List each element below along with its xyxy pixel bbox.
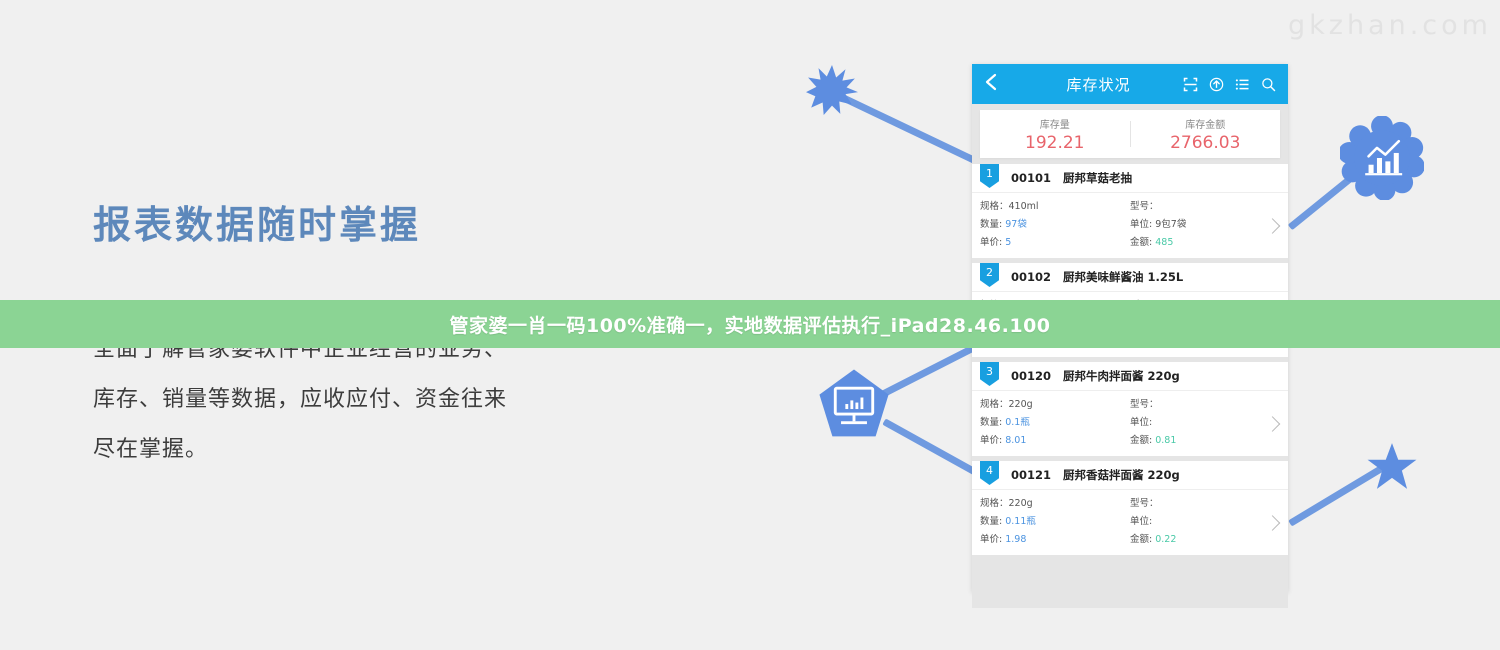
product-spec: 规格：220g: [980, 495, 1130, 513]
product-details-right: 型号：单位: 金额: 0.81: [1130, 396, 1280, 450]
starburst-icon: [806, 64, 858, 116]
product-qty: 数量: 0.1瓶: [980, 414, 1130, 432]
product-details-right: 型号：单位: 9包7袋金额: 485: [1130, 198, 1280, 252]
product-index-badge: 3: [980, 362, 999, 386]
product-model: 型号：: [1130, 396, 1280, 414]
summary-stock-amount-label: 库存金额: [1131, 116, 1281, 131]
product-code: 00102: [1011, 270, 1051, 284]
product-index-badge: 1: [980, 164, 999, 188]
promo-description-line-2: 库存、销量等数据，应收应付、资金往来: [93, 375, 507, 425]
search-icon[interactable]: [1261, 77, 1276, 92]
summary-card: 库存量 192.21 库存金额 2766.03: [980, 110, 1280, 158]
product-name: 厨邦美味鲜酱油 1.25L: [1063, 269, 1183, 285]
app-footer: [972, 560, 1288, 608]
product-model: 型号：: [1130, 495, 1280, 513]
product-details-left: 规格：220g数量: 0.11瓶单价: 1.98: [980, 495, 1130, 549]
chevron-left-icon[interactable]: [984, 73, 998, 96]
summary-stock-qty: 库存量 192.21: [980, 116, 1130, 153]
product-spec: 规格：410ml: [980, 198, 1130, 216]
product-name: 厨邦草菇老抽: [1063, 170, 1132, 186]
product-row-header: 300120厨邦牛肉拌面酱 220g: [972, 362, 1288, 391]
product-index-badge: 4: [980, 461, 999, 485]
promo-banner-canvas: gkzhan.com 报表数据随时掌握 全面了解管家婆软件中企业经营的业务、 库…: [0, 0, 1500, 650]
product-unit: 单位:: [1130, 414, 1280, 432]
summary-stock-qty-label: 库存量: [980, 116, 1130, 131]
product-code: 00101: [1011, 171, 1051, 185]
promo-description-line-3: 尽在掌握。: [93, 425, 507, 475]
scan-icon[interactable]: [1183, 77, 1198, 92]
product-row-details: 规格：220g数量: 0.11瓶单价: 1.98型号：单位: 金额: 0.22: [972, 490, 1288, 555]
product-row[interactable]: 100101厨邦草菇老抽规格：410ml数量: 97袋单价: 5型号：单位: 9…: [972, 164, 1288, 258]
app-title: 库存状况: [1014, 74, 1183, 95]
promo-overlay-banner: 管家婆一肖一码100%准确一，实地数据评估执行_iPad28.46.100: [0, 300, 1500, 348]
product-name: 厨邦牛肉拌面酱 220g: [1063, 368, 1180, 384]
product-list: 100101厨邦草菇老抽规格：410ml数量: 97袋单价: 5型号：单位: 9…: [972, 164, 1288, 555]
product-code: 00120: [1011, 369, 1051, 383]
upload-circle-icon[interactable]: [1209, 77, 1224, 92]
product-row-details: 规格：220g数量: 0.1瓶单价: 8.01型号：单位: 金额: 0.81: [972, 391, 1288, 456]
product-price: 单价: 5: [980, 234, 1130, 252]
product-qty: 数量: 0.11瓶: [980, 513, 1130, 531]
connector-line-pentagon-upper: [878, 342, 979, 398]
summary-stock-amount-value: 2766.03: [1131, 133, 1281, 153]
product-row[interactable]: 300120厨邦牛肉拌面酱 220g规格：220g数量: 0.1瓶单价: 8.0…: [972, 362, 1288, 456]
connector-line-pentagon-lower: [882, 418, 980, 476]
product-unit: 单位: 9包7袋: [1130, 216, 1280, 234]
list-icon[interactable]: [1235, 77, 1250, 92]
product-row-header: 100101厨邦草菇老抽: [972, 164, 1288, 193]
product-qty: 数量: 97袋: [980, 216, 1130, 234]
promo-overlay-text: 管家婆一肖一码100%准确一，实地数据评估执行_iPad28.46.100: [449, 311, 1050, 338]
product-amount: 金额: 0.22: [1130, 531, 1280, 549]
star-icon: [1366, 441, 1418, 493]
product-amount: 金额: 485: [1130, 234, 1280, 252]
app-header-actions: [1183, 77, 1276, 92]
product-index-badge: 2: [980, 263, 999, 287]
product-details-left: 规格：220g数量: 0.1瓶单价: 8.01: [980, 396, 1130, 450]
product-details-left: 规格：410ml数量: 97袋单价: 5: [980, 198, 1130, 252]
product-model: 型号：: [1130, 198, 1280, 216]
product-unit: 单位:: [1130, 513, 1280, 531]
app-header: 库存状况: [972, 64, 1288, 104]
summary-stock-amount: 库存金额 2766.03: [1131, 116, 1281, 153]
product-details-right: 型号：单位: 金额: 0.22: [1130, 495, 1280, 549]
page-title: 报表数据随时掌握: [93, 194, 421, 249]
product-code: 00121: [1011, 468, 1051, 482]
product-price: 单价: 1.98: [980, 531, 1130, 549]
product-name: 厨邦香菇拌面酱 220g: [1063, 467, 1180, 483]
chart-badge: [1340, 116, 1424, 200]
monitor-badge: [818, 368, 890, 440]
product-row[interactable]: 400121厨邦香菇拌面酱 220g规格：220g数量: 0.11瓶单价: 1.…: [972, 461, 1288, 555]
product-row-details: 规格：410ml数量: 97袋单价: 5型号：单位: 9包7袋金额: 485: [972, 193, 1288, 258]
product-price: 单价: 8.01: [980, 432, 1130, 450]
summary-stock-qty-value: 192.21: [980, 133, 1130, 153]
product-row-header: 400121厨邦香菇拌面酱 220g: [972, 461, 1288, 490]
site-watermark: gkzhan.com: [1288, 10, 1492, 41]
product-spec: 规格：220g: [980, 396, 1130, 414]
product-amount: 金额: 0.81: [1130, 432, 1280, 450]
product-row-header: 200102厨邦美味鲜酱油 1.25L: [972, 263, 1288, 292]
